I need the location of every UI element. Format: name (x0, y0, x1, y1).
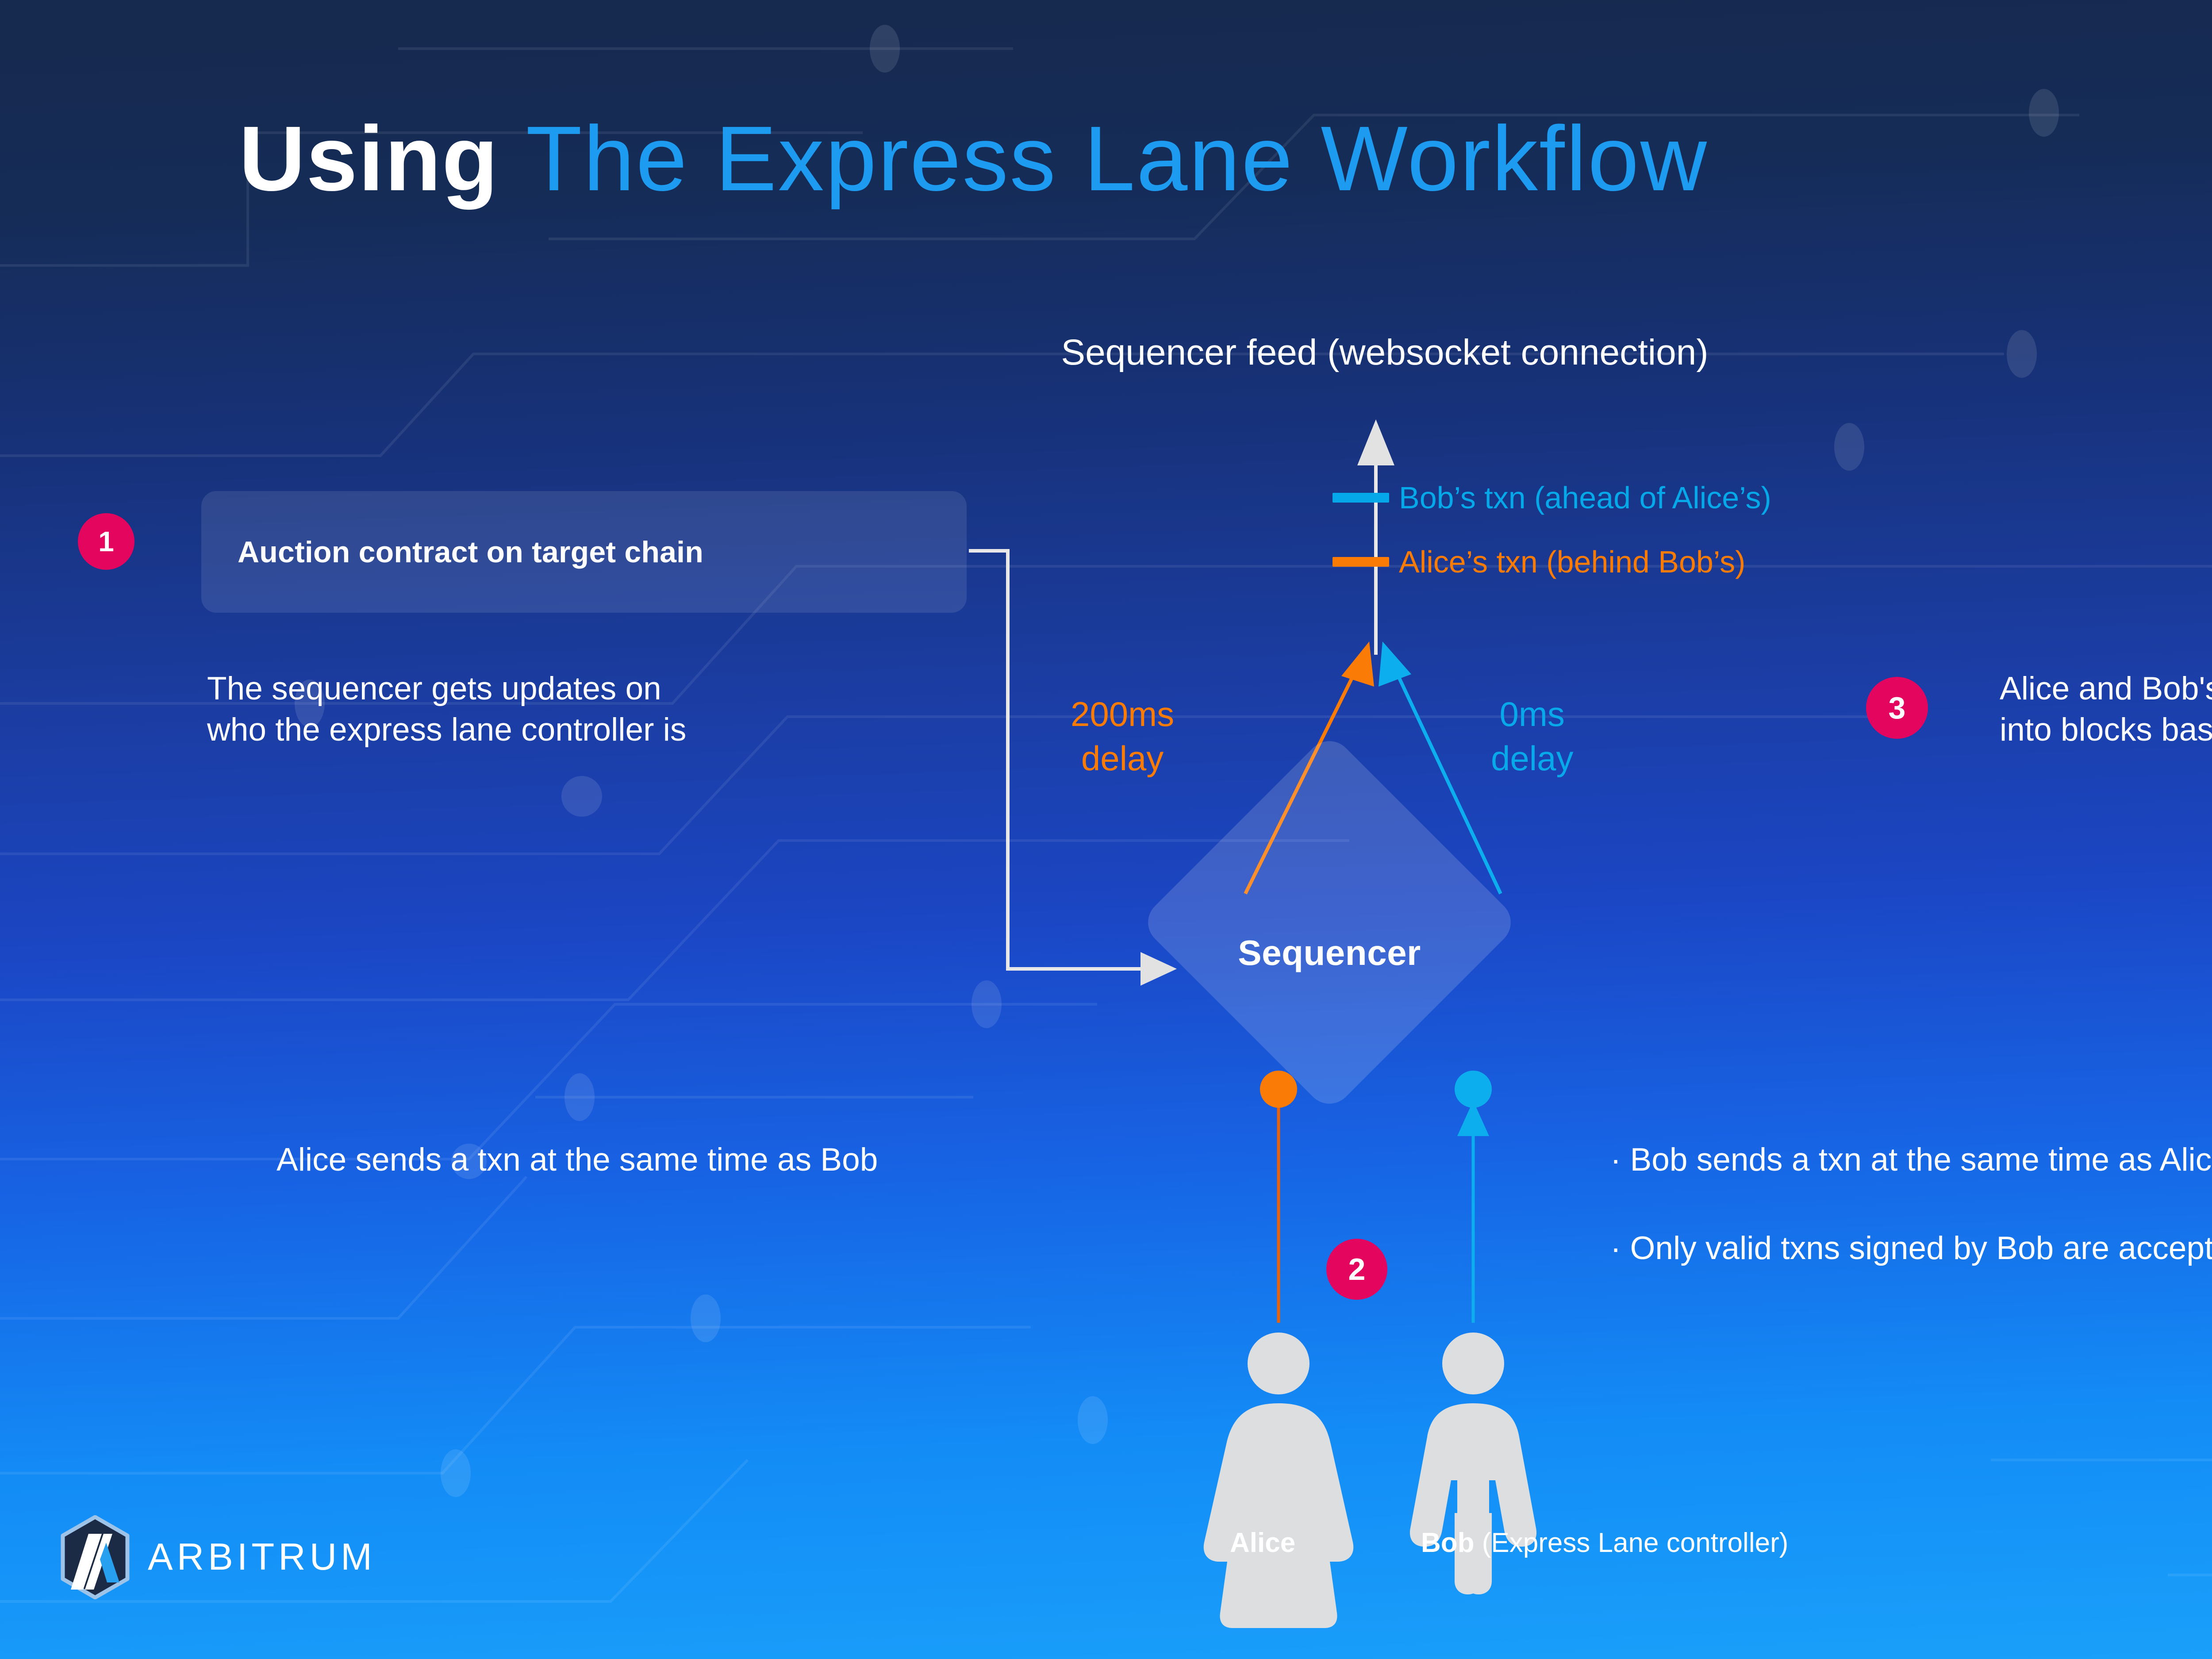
bob-name-label: Bob (Express Lane controller) (1421, 1527, 1788, 1559)
bullet-only-valid-txns: · Only valid txns signed by Bob are acce… (1610, 1230, 2212, 1267)
alice-figure-icon (1204, 1333, 1354, 1628)
step-badge-2: 2 (1326, 1239, 1387, 1300)
alice-name-label: Alice (1230, 1527, 1295, 1559)
step-3-description: Alice and Bob's txns get ordered into bl… (2000, 668, 2212, 751)
legend-item-bob-txn: Bob’s txn (ahead of Alice’s) (1333, 480, 1771, 515)
arbitrum-wordmark: ARBITRUM (148, 1536, 376, 1579)
step-badge-1: 1 (78, 513, 134, 570)
auction-contract-box[interactable]: Auction contract on target chain (201, 491, 967, 613)
bullet-bob-sends: · Bob sends a txn at the same time as Al… (1610, 1141, 2212, 1178)
bob-delay-arrowhead (1379, 641, 1411, 687)
legend-label-bob: Bob’s txn (ahead of Alice’s) (1399, 480, 1771, 515)
legend-label-alice: Alice’s txn (behind Bob’s) (1399, 544, 1745, 580)
sequencer-node-label: Sequencer (1194, 933, 1464, 973)
bob-role-text: (Express Lane controller) (1475, 1528, 1789, 1558)
bob-name-bold: Bob (1421, 1528, 1475, 1558)
alice-send-note: Alice sends a txn at the same time as Bo… (276, 1141, 878, 1178)
bob-delay-label: 0ms delay (1491, 692, 1573, 781)
step-badge-3: 3 (1866, 677, 1928, 739)
alice-delay-arrowhead (1341, 641, 1374, 687)
bob-txn-dot (1455, 1071, 1492, 1108)
legend-dash-alice-icon (1333, 557, 1389, 567)
diagram-connectors (0, 0, 2212, 1659)
arbitrum-shield-icon (58, 1515, 133, 1599)
alice-delay-label: 200ms delay (1071, 692, 1174, 781)
auction-connector-arrowhead (1141, 952, 1177, 986)
legend-item-alice-txn: Alice’s txn (behind Bob’s) (1333, 544, 1745, 580)
sequencer-updates-note: The sequencer gets updates on who the ex… (207, 668, 686, 751)
alice-txn-dot (1260, 1071, 1297, 1108)
feed-arrowhead (1357, 419, 1394, 465)
legend-dash-bob-icon (1333, 493, 1389, 503)
arbitrum-logo: ARBITRUM (58, 1515, 376, 1599)
auction-contract-label: Auction contract on target chain (201, 535, 703, 569)
